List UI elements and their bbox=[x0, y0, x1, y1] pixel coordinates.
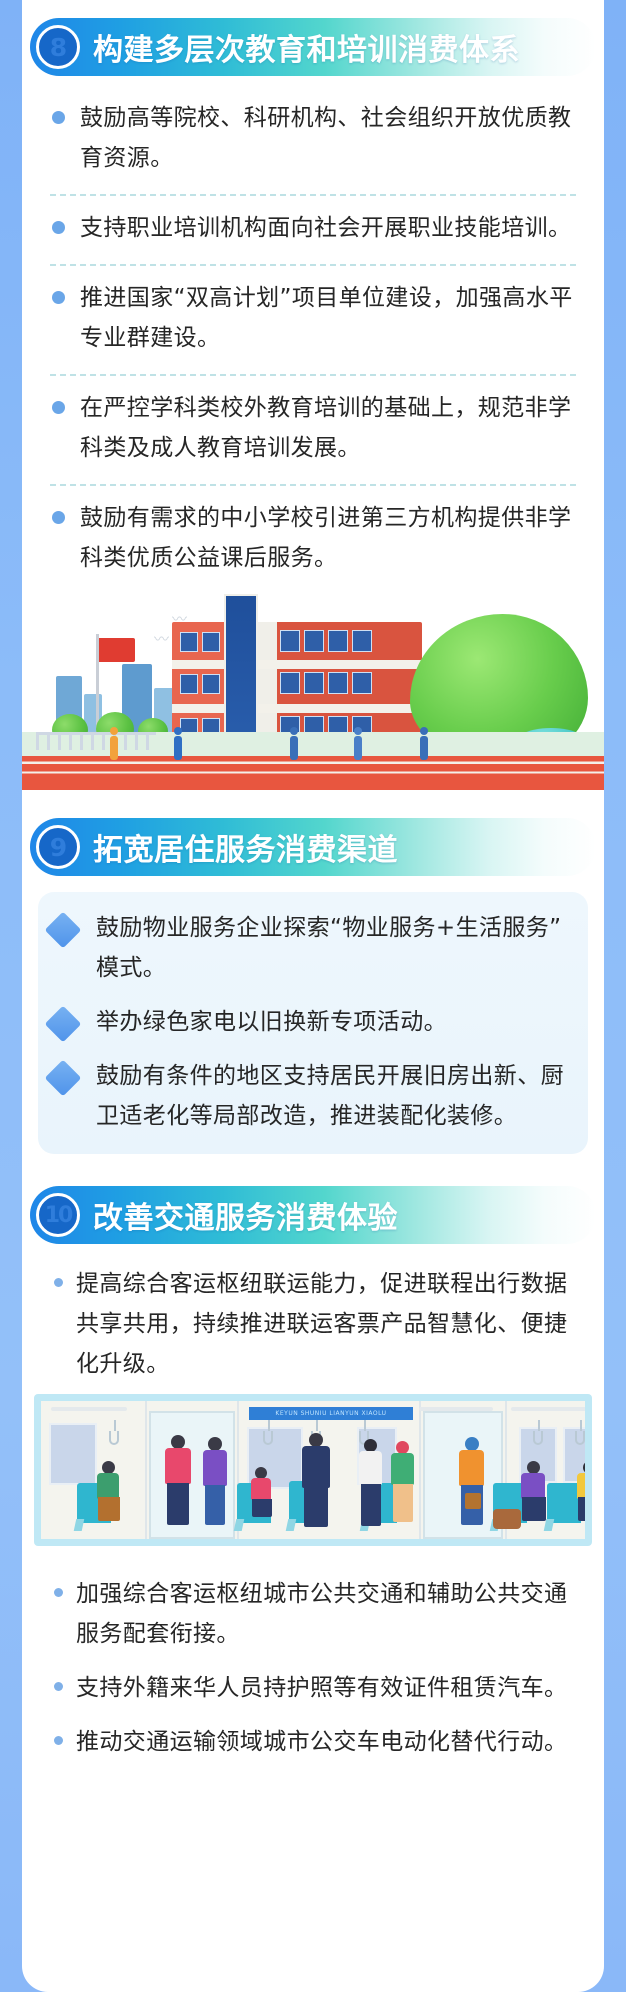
item-divider bbox=[50, 484, 576, 486]
section-number-badge-10: 10 bbox=[36, 1193, 80, 1237]
person-icon bbox=[174, 736, 182, 760]
window-icon bbox=[280, 672, 300, 694]
passenger-icon bbox=[163, 1435, 193, 1527]
bullet-dot-icon bbox=[52, 111, 65, 124]
window-icon bbox=[49, 1423, 97, 1485]
infographic-card: 8 构建多层次教育和培训消费体系 鼓励高等院校、科研机构、社会组织开放优质教育资… bbox=[22, 0, 604, 1992]
luggage-rack bbox=[511, 1407, 585, 1411]
passenger-icon bbox=[299, 1433, 333, 1529]
list-item-text: 鼓励物业服务企业探索“物业服务+生活服务”模式。 bbox=[96, 908, 574, 988]
list-item-text: 支持职业培训机构面向社会开展职业技能培训。 bbox=[80, 208, 578, 248]
hand-strap-icon bbox=[109, 1431, 119, 1445]
window-icon bbox=[202, 632, 220, 652]
passenger-icon bbox=[575, 1461, 585, 1523]
window-icon bbox=[328, 630, 348, 652]
section-10-list-top: 提高综合客运枢纽联运能力，促进联程出行数据共享共用，持续推进联运客票产品智慧化、… bbox=[22, 1244, 604, 1384]
bullet-dot-icon bbox=[54, 1682, 63, 1691]
fence-icon bbox=[36, 732, 156, 750]
section-header-10: 10 改善交通服务消费体验 bbox=[22, 1186, 604, 1244]
panel-divider bbox=[145, 1401, 147, 1539]
list-item: 加强综合客运枢纽城市公共交通和辅助公共交通服务配套衔接。 bbox=[48, 1574, 578, 1654]
list-item-text: 推进国家“双高计划”项目单位建设，加强高水平专业群建设。 bbox=[80, 278, 578, 358]
bullet-dot-icon bbox=[52, 221, 65, 234]
window-icon bbox=[180, 632, 198, 652]
person-icon bbox=[420, 736, 428, 760]
school-campus-illustration: 〰 〰 〰 bbox=[22, 594, 604, 790]
list-item: 鼓励高等院校、科研机构、社会组织开放优质教育资源。 bbox=[48, 98, 578, 184]
passenger-icon bbox=[249, 1467, 275, 1519]
window-icon bbox=[352, 672, 372, 694]
list-item-text: 在严控学科类校外教育培训的基础上，规范非学科类及成人教育培训发展。 bbox=[80, 388, 578, 468]
list-item-text: 鼓励有需求的中小学校引进第三方机构提供非学科类优质公益课后服务。 bbox=[80, 498, 578, 578]
bullet-diamond-icon bbox=[45, 912, 82, 949]
infographic-content: 8 构建多层次教育和培训消费体系 鼓励高等院校、科研机构、社会组织开放优质教育资… bbox=[22, 18, 604, 1820]
list-item-text: 加强综合客运枢纽城市公共交通和辅助公共交通服务配套衔接。 bbox=[76, 1574, 578, 1654]
section-title-8: 构建多层次教育和培训消费体系 bbox=[93, 25, 520, 69]
window-icon bbox=[180, 674, 198, 694]
list-item: 在严控学科类校外教育培训的基础上，规范非学科类及成人教育培训发展。 bbox=[48, 388, 578, 474]
window-icon bbox=[352, 630, 372, 652]
hand-strap-icon bbox=[263, 1431, 273, 1445]
section-number-badge-9: 9 bbox=[36, 825, 80, 869]
window-icon bbox=[202, 674, 220, 694]
item-divider bbox=[50, 194, 576, 196]
section-number-badge-8: 8 bbox=[36, 25, 80, 69]
section-header-8: 8 构建多层次教育和培训消费体系 bbox=[22, 18, 604, 76]
bullet-dot-icon bbox=[54, 1736, 63, 1745]
item-divider bbox=[50, 264, 576, 266]
list-item: 提高综合客运枢纽联运能力，促进联程出行数据共享共用，持续推进联运客票产品智慧化、… bbox=[48, 1264, 578, 1384]
list-item-text: 举办绿色家电以旧换新专项活动。 bbox=[96, 1002, 574, 1042]
passenger-icon bbox=[457, 1437, 487, 1527]
section-10-list-bottom: 加强综合客运枢纽城市公共交通和辅助公共交通服务配套衔接。 支持外籍来华人员持护照… bbox=[22, 1554, 604, 1762]
passenger-icon bbox=[95, 1461, 123, 1523]
bullet-dot-icon bbox=[54, 1278, 63, 1287]
subway-interior-illustration: KEYUN SHUNIU LIANYUN XIAOLU bbox=[34, 1394, 592, 1546]
national-flag-icon bbox=[99, 638, 135, 662]
facade-band bbox=[172, 660, 422, 669]
list-item: 鼓励物业服务企业探索“物业服务+生活服务”模式。 bbox=[48, 908, 574, 988]
list-item: 举办绿色家电以旧换新专项活动。 bbox=[48, 1002, 574, 1042]
bullet-dot-icon bbox=[52, 401, 65, 414]
window-icon bbox=[304, 672, 324, 694]
section-header-9: 9 拓宽居住服务消费渠道 bbox=[22, 818, 604, 876]
luggage-rack bbox=[419, 1407, 493, 1411]
panel-divider bbox=[419, 1401, 421, 1539]
spacer bbox=[22, 1158, 604, 1168]
spacer bbox=[22, 790, 604, 800]
infographic-page: { "theme": { "page_bg": "#8cbcf9", "card… bbox=[0, 0, 626, 1992]
person-icon bbox=[354, 736, 362, 760]
item-divider bbox=[50, 374, 576, 376]
list-item: 支持外籍来华人员持护照等有效证件租赁汽车。 bbox=[48, 1668, 578, 1708]
section-title-9: 拓宽居住服务消费渠道 bbox=[93, 825, 398, 869]
luggage-rack bbox=[51, 1407, 127, 1411]
person-icon bbox=[290, 736, 298, 760]
hand-strap-icon bbox=[533, 1431, 543, 1445]
bullet-dot-icon bbox=[52, 291, 65, 304]
person-icon bbox=[110, 736, 118, 760]
passenger-icon bbox=[201, 1437, 229, 1527]
list-item-text: 推动交通运输领域城市公交车电动化替代行动。 bbox=[76, 1722, 578, 1762]
passenger-icon bbox=[389, 1441, 417, 1525]
bullet-dot-icon bbox=[52, 511, 65, 524]
list-item: 鼓励有需求的中小学校引进第三方机构提供非学科类优质公益课后服务。 bbox=[48, 498, 578, 584]
bullet-dot-icon bbox=[54, 1588, 63, 1597]
toolbox-icon bbox=[465, 1493, 481, 1509]
section-8-list: 鼓励高等院校、科研机构、社会组织开放优质教育资源。 支持职业培训机构面向社会开展… bbox=[22, 76, 604, 590]
list-item: 支持职业培训机构面向社会开展职业技能培训。 bbox=[48, 208, 578, 254]
luggage-bag-icon bbox=[493, 1509, 521, 1529]
bullet-diamond-icon bbox=[45, 1060, 82, 1097]
section-9-list: 鼓励物业服务企业探索“物业服务+生活服务”模式。 举办绿色家电以旧换新专项活动。… bbox=[38, 892, 588, 1154]
list-item: 推进国家“双高计划”项目单位建设，加强高水平专业群建设。 bbox=[48, 278, 578, 364]
bullet-diamond-icon bbox=[45, 1006, 82, 1043]
window-icon bbox=[328, 672, 348, 694]
list-item: 鼓励有条件的地区支持居民开展旧房出新、厨卫适老化等局部改造，推进装配化装修。 bbox=[48, 1056, 574, 1136]
route-sign: KEYUN SHUNIU LIANYUN XIAOLU bbox=[249, 1407, 413, 1420]
section-title-10: 改善交通服务消费体验 bbox=[93, 1193, 398, 1237]
window-icon bbox=[304, 630, 324, 652]
passenger-icon bbox=[357, 1439, 385, 1527]
bird-icon: 〰 bbox=[154, 628, 169, 649]
window-icon bbox=[280, 630, 300, 652]
list-item-text: 鼓励高等院校、科研机构、社会组织开放优质教育资源。 bbox=[80, 98, 578, 178]
running-track bbox=[22, 756, 604, 790]
list-item-text: 鼓励有条件的地区支持居民开展旧房出新、厨卫适老化等局部改造，推进装配化装修。 bbox=[96, 1056, 574, 1136]
facade-band bbox=[172, 704, 422, 713]
subway-carriage: KEYUN SHUNIU LIANYUN XIAOLU bbox=[41, 1401, 585, 1539]
hand-strap-icon bbox=[575, 1431, 585, 1445]
list-item: 推动交通运输领域城市公交车电动化替代行动。 bbox=[48, 1722, 578, 1762]
list-item-text: 支持外籍来华人员持护照等有效证件租赁汽车。 bbox=[76, 1668, 578, 1708]
list-item-text: 提高综合客运枢纽联运能力，促进联程出行数据共享共用，持续推进联运客票产品智慧化、… bbox=[76, 1264, 578, 1384]
passenger-icon bbox=[519, 1461, 549, 1523]
